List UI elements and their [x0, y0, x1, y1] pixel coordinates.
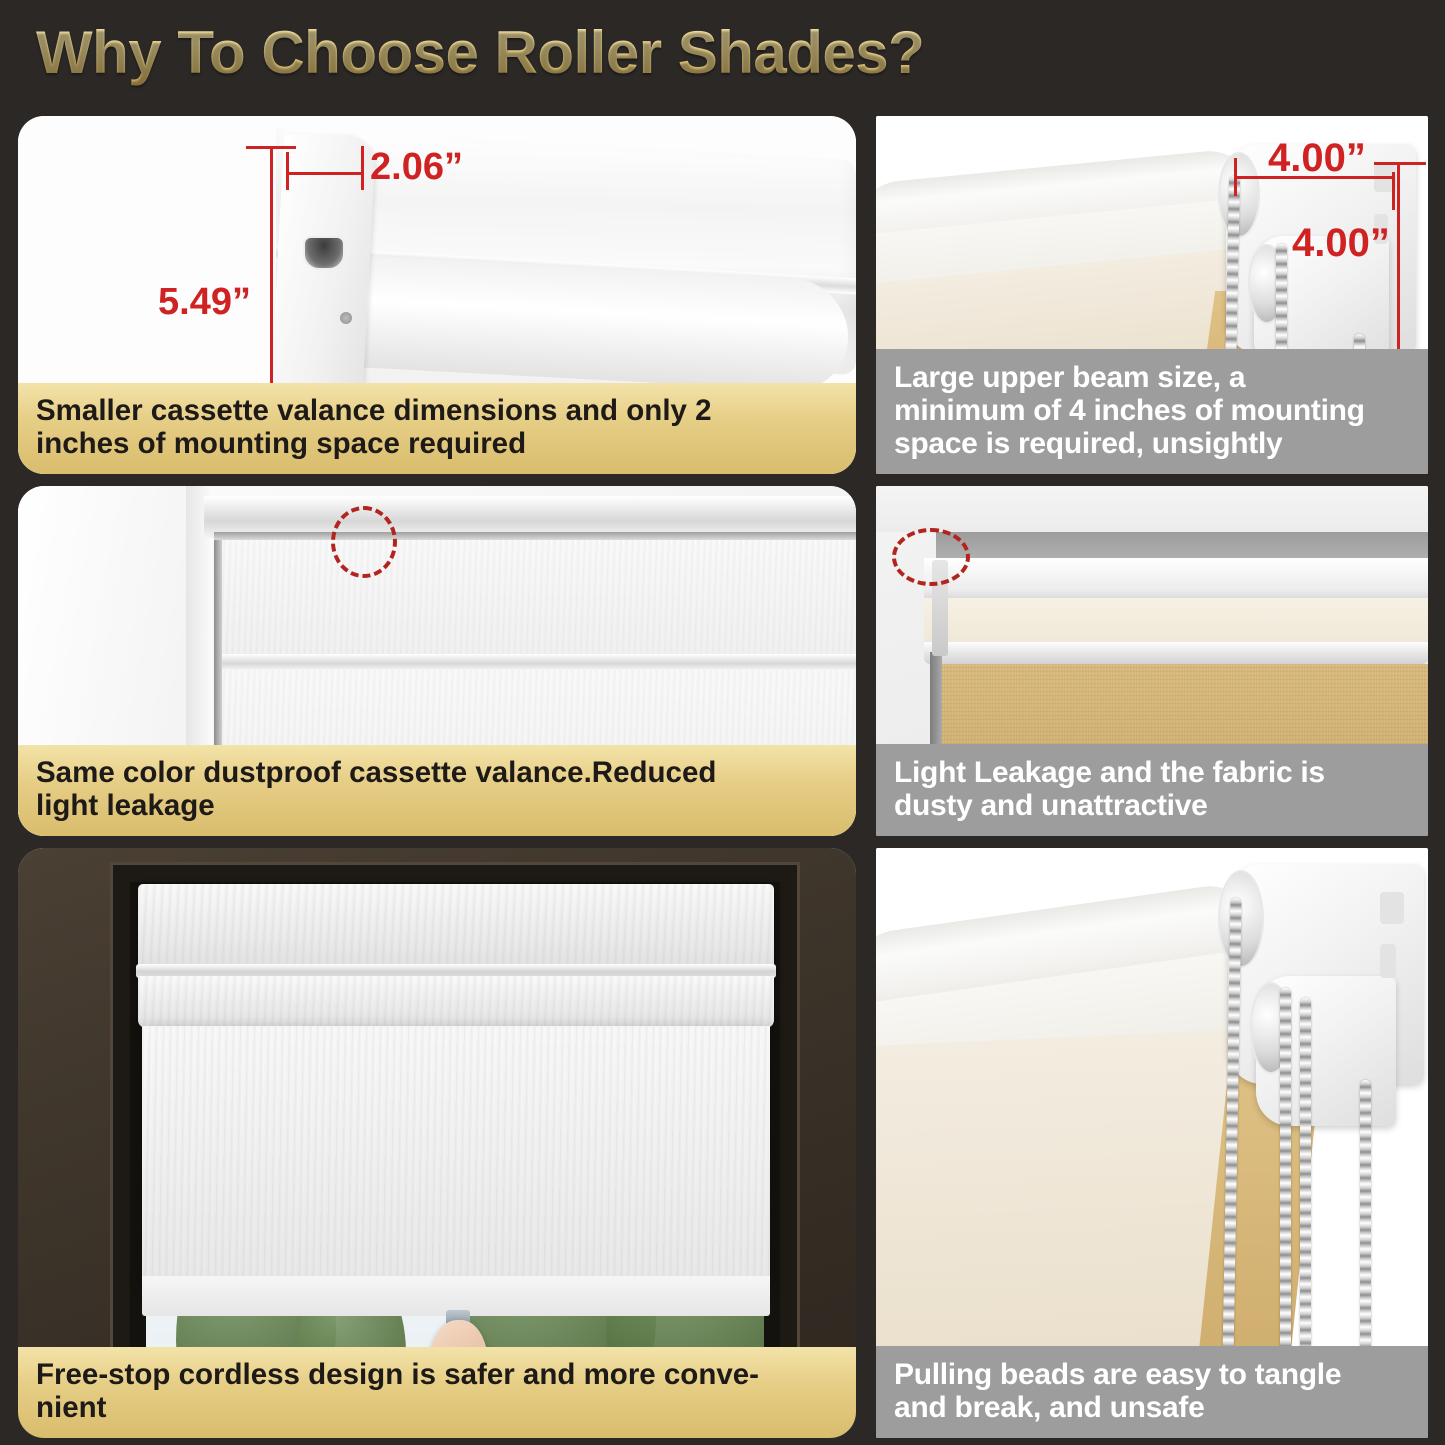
caption-line: Free-stop cordless design is safer and m… — [36, 1359, 840, 1391]
caption-line: Smaller cassette valance dimensions and … — [36, 395, 840, 427]
gap-highlight-circle — [331, 506, 397, 578]
comparison-grid: 5.49” 2.06” Smaller cassette valance dim… — [0, 108, 1445, 1445]
width-dimension-label: 2.06” — [370, 146, 463, 189]
caption-line: inches of mounting space required — [36, 428, 840, 460]
caption-line: Pulling beads are easy to tangle — [894, 1358, 1412, 1391]
panel-caption-cassette-valance-dimensions: Smaller cassette valance dimensions and … — [18, 383, 856, 474]
panel-dustproof-cassette-valance: smaller gap Same color dustproof cassett… — [18, 486, 856, 836]
panel-large-upper-beam-dimensions: 4.00” 4.00” Large upper beam size, a min… — [876, 116, 1428, 474]
valance-control-slot-icon — [303, 236, 345, 270]
screw-icon — [340, 312, 352, 324]
caption-line: and break, and unsafe — [894, 1391, 1412, 1424]
caption-line: Same color dustproof cassette valance.Re… — [36, 757, 840, 789]
panel-caption-free-stop-cordless: Free-stop cordless design is safer and m… — [18, 1347, 856, 1438]
caption-line: Light Leakage and the fabric is — [894, 756, 1412, 789]
caption-line: minimum of 4 inches of mounting — [894, 394, 1412, 427]
panel-free-stop-cordless-design: Free-stop cordless design is safer and m… — [18, 848, 856, 1438]
caption-line: dusty and unattractive — [894, 789, 1412, 822]
width-dimension-label: 4.00” — [1268, 136, 1366, 181]
panel-caption-large-upper-beam: Large upper beam size, a minimum of 4 in… — [876, 349, 1428, 474]
panel-cassette-valance-dimensions: 5.49” 2.06” Smaller cassette valance dim… — [18, 116, 856, 474]
caption-line: space is required, unsightly — [894, 427, 1412, 460]
panel-pulling-beads-tangle: Pulling beads are easy to tangle and bre… — [876, 848, 1428, 1438]
gap-highlight-circle — [892, 528, 970, 586]
page-title: Why To Choose Roller Shades? — [36, 18, 924, 87]
height-dimension-label: 4.00” — [1292, 221, 1390, 266]
panel-light-leakage-dusty-fabric: Large gap Light Leakage and the fabric i… — [876, 486, 1428, 836]
panel-caption-light-leakage: Light Leakage and the fabric is dusty an… — [876, 744, 1428, 836]
panel-caption-dustproof-valance: Same color dustproof cassette valance.Re… — [18, 745, 856, 836]
panel-caption-pulling-beads: Pulling beads are easy to tangle and bre… — [876, 1346, 1428, 1438]
caption-line: Large upper beam size, a — [894, 361, 1412, 394]
caption-line: light leakage — [36, 790, 840, 822]
height-dimension-label: 5.49” — [158, 281, 251, 324]
caption-line: nient — [36, 1392, 840, 1424]
